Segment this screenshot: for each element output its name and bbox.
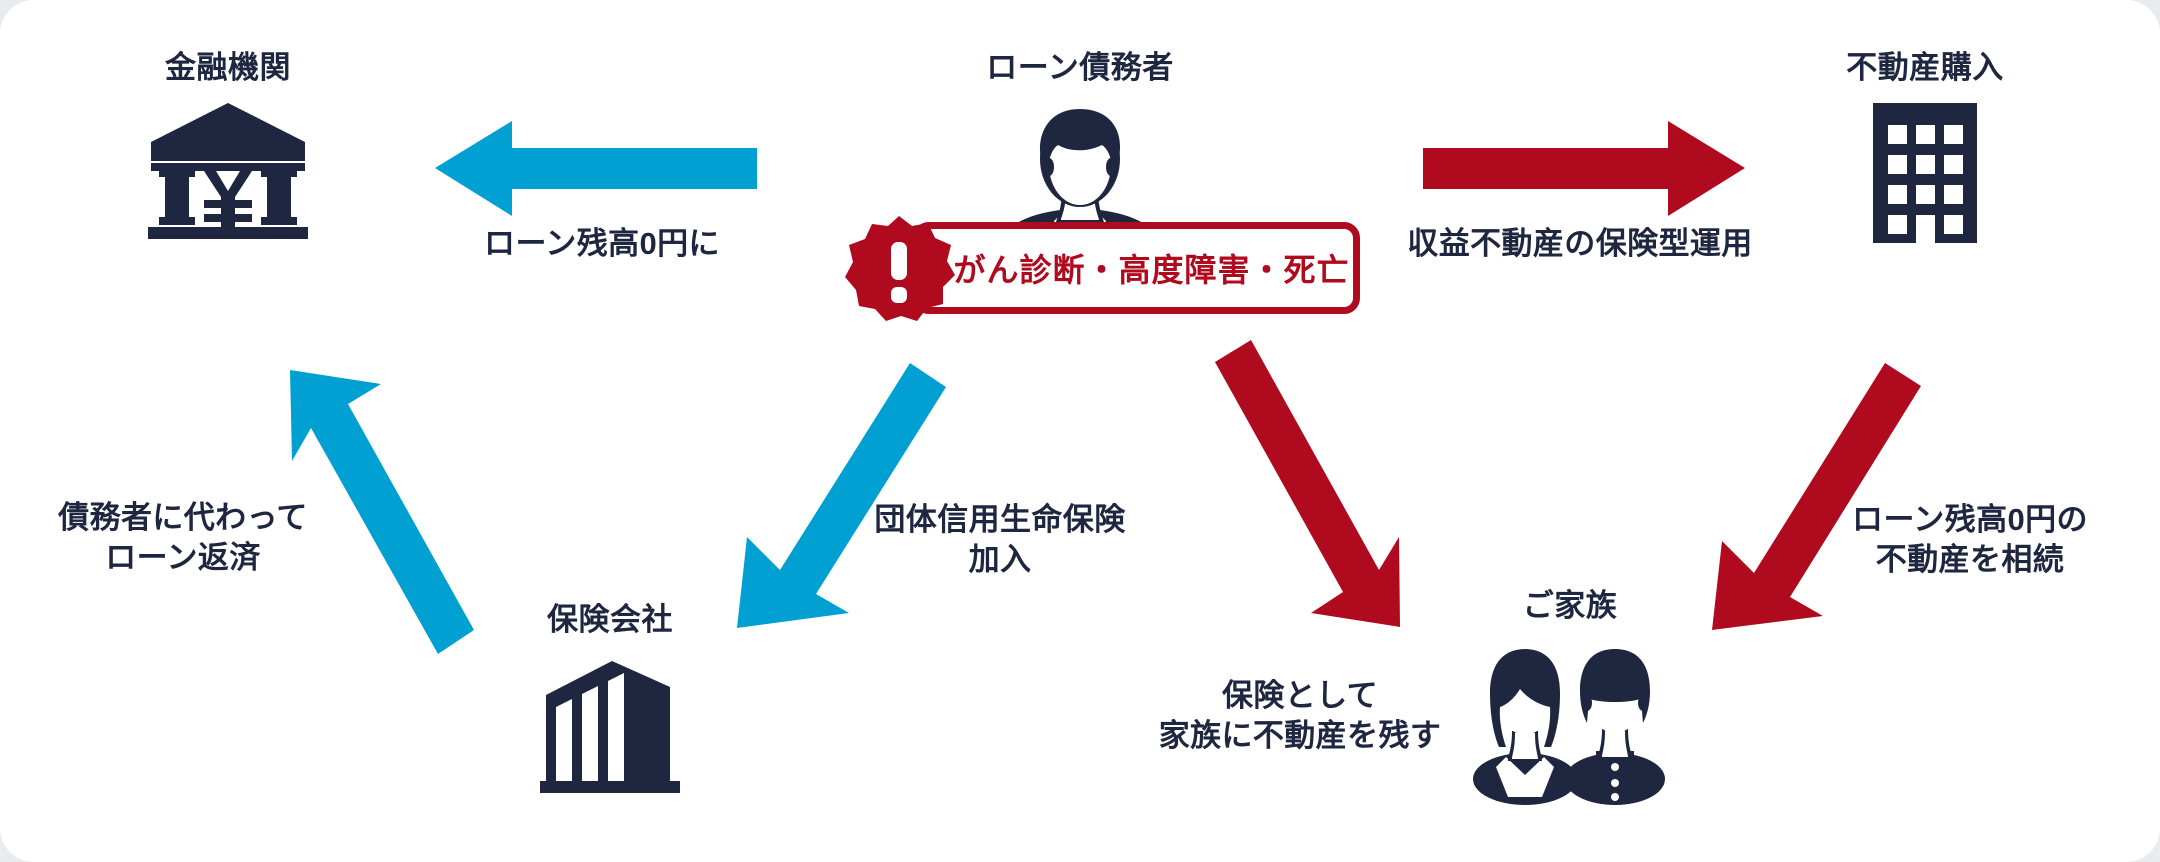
status-badge: がん診断・高度障害・死亡 xyxy=(845,222,1360,314)
arrow-label-debtor-to-family: 保険として 家族に不動産を残す xyxy=(1135,676,1465,757)
family-icon xyxy=(1470,643,1670,803)
node-family-label: ご家族 xyxy=(1523,580,1618,625)
arrow-label-debtor-to-property: 収益不動産の保険型運用 xyxy=(1380,224,1780,264)
badge-box: がん診断・高度障害・死亡 xyxy=(913,222,1360,314)
node-bank-label: 金融機関 xyxy=(165,42,291,87)
node-insurer-label: 保険会社 xyxy=(547,594,673,639)
office-building-icon xyxy=(540,655,680,795)
arrow-debtor-to-insurer xyxy=(737,363,946,628)
node-property-label: 不動産購入 xyxy=(1846,42,2004,87)
node-debtor-label: ローン債務者 xyxy=(986,42,1173,87)
arrow-debtor-to-bank xyxy=(435,121,757,216)
node-bank: 金融機関 xyxy=(118,42,338,237)
arrow-label-property-to-family: ローン残高0円の 不動産を相続 xyxy=(1825,500,2115,581)
diagram-canvas: 金融機関 ローン債務者 xyxy=(0,0,2160,862)
arrow-debtor-to-property xyxy=(1423,121,1745,216)
woman-figure xyxy=(1473,649,1577,805)
apartment-building-icon xyxy=(1865,103,1985,243)
bank-yen-icon xyxy=(148,97,308,237)
arrow-label-debtor-to-insurer: 団体信用生命保険 加入 xyxy=(855,500,1145,581)
node-property: 不動産購入 xyxy=(1810,42,2040,243)
badge-label: がん診断・高度障害・死亡 xyxy=(953,245,1349,291)
boy-figure xyxy=(1565,649,1665,805)
exclamation-burst-icon xyxy=(845,214,953,322)
arrow-debtor-to-family xyxy=(1215,340,1400,627)
arrow-property-to-family xyxy=(1712,363,1921,630)
arrow-label-debtor-to-bank: ローン残高0円に xyxy=(472,224,732,264)
arrow-label-insurer-to-bank: 債務者に代わって ローン返済 xyxy=(48,498,318,579)
node-family: ご家族 xyxy=(1455,580,1685,803)
node-insurer: 保険会社 xyxy=(500,594,720,795)
